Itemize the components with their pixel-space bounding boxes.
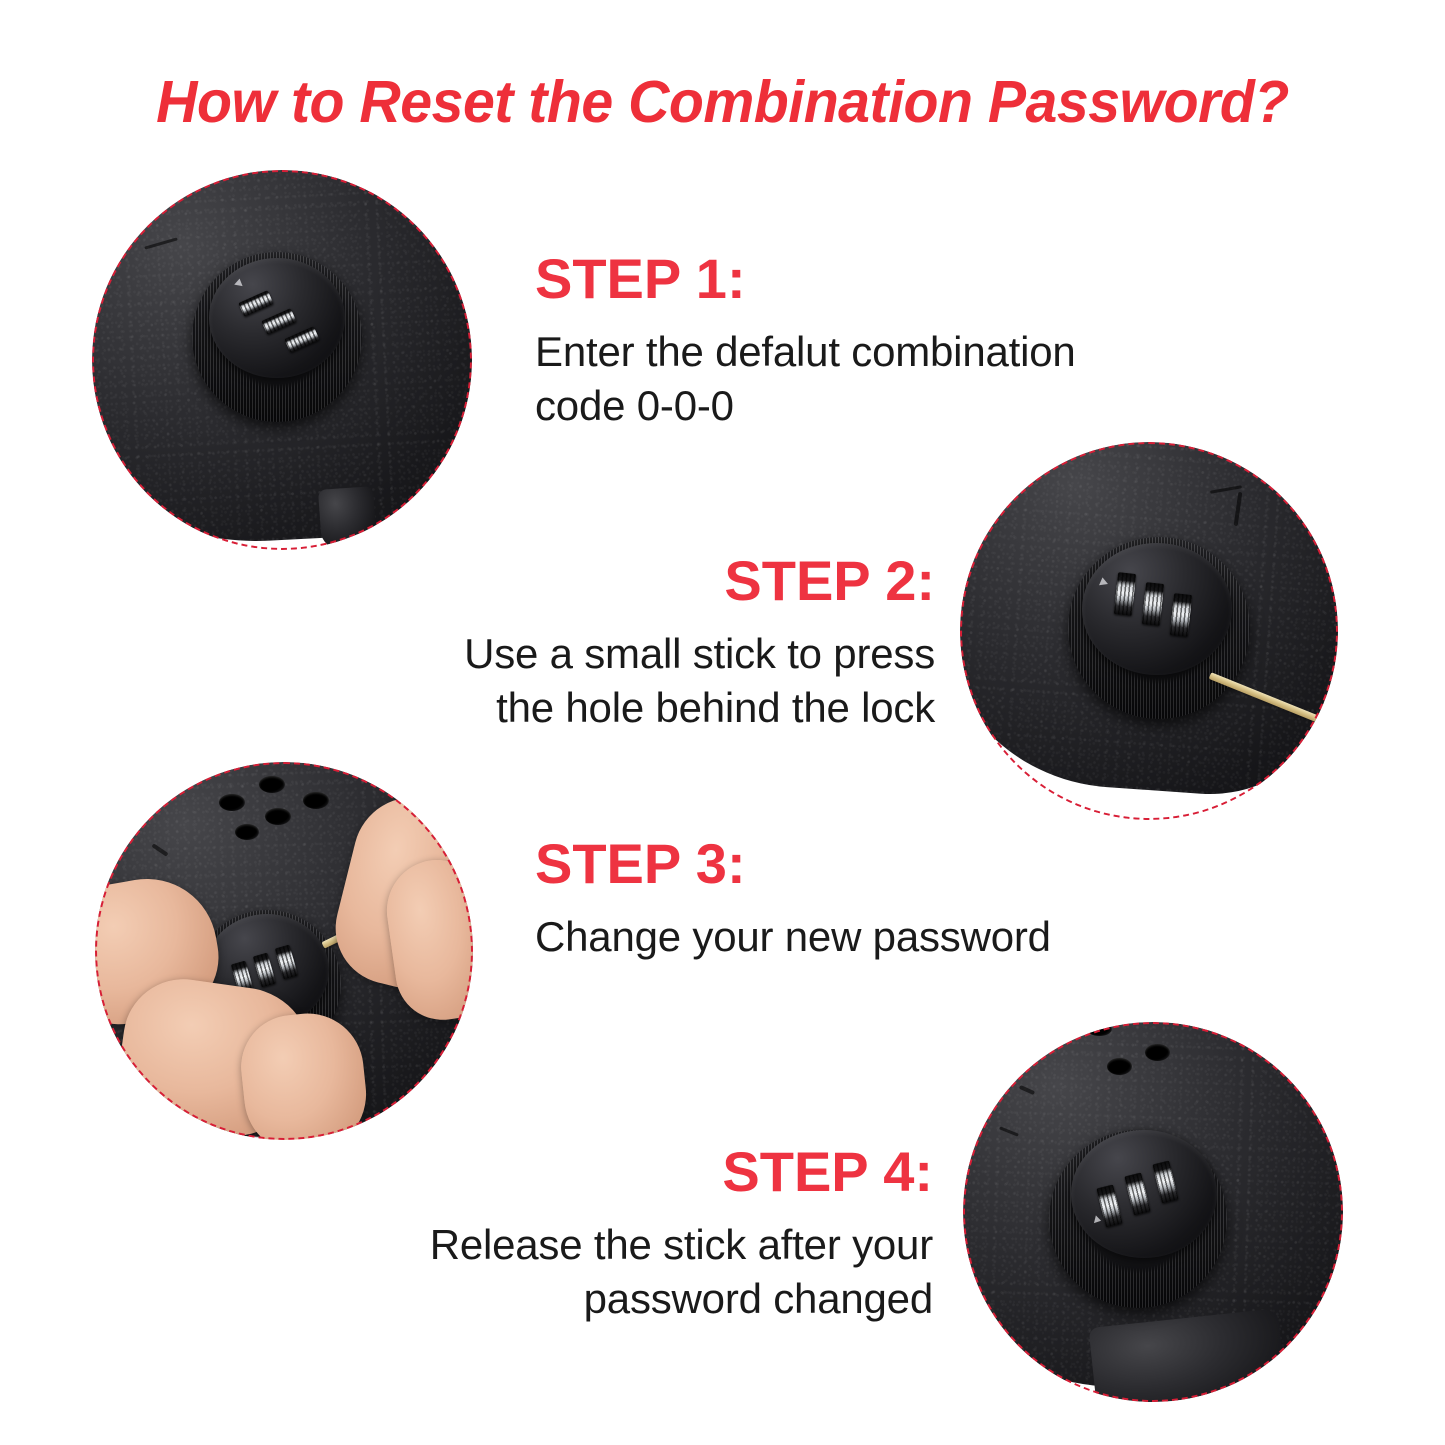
step-2-photo-content — [960, 442, 1338, 820]
combination-lock-dial — [192, 252, 362, 422]
combination-lock-dial — [1068, 537, 1250, 719]
step-2-body-line-2: the hole behind the lock — [230, 681, 935, 736]
step-2-heading: STEP 2: — [230, 552, 935, 611]
panel-latch-tab — [318, 486, 377, 550]
step-3-heading: STEP 3: — [535, 835, 1235, 894]
step-2-text-block: STEP 2: Use a small stick to press the h… — [230, 552, 935, 736]
vent-hole — [219, 794, 245, 811]
vent-hole — [1087, 1022, 1112, 1036]
step-1-photo-content — [92, 170, 472, 550]
step-1-body: Enter the defalut combination code 0-0-0 — [535, 325, 1235, 434]
step-1-body-line-2: code 0-0-0 — [535, 379, 1235, 434]
step-3-photo-content — [95, 762, 473, 1140]
step-3-body-line-1: Change your new password — [535, 910, 1235, 965]
dial-index-marker — [1098, 577, 1108, 585]
step-4-photo-content — [963, 1022, 1343, 1402]
step-1-text-block: STEP 1: Enter the defalut combination co… — [535, 250, 1235, 434]
vent-hole — [1145, 1044, 1170, 1061]
step-3-body: Change your new password — [535, 910, 1235, 965]
step-2-body-line-1: Use a small stick to press — [230, 627, 935, 682]
infographic-page: How to Reset the Combination Password? — [0, 0, 1445, 1445]
step-1-photo — [92, 170, 472, 550]
step-4-body-line-1: Release the stick after your — [228, 1218, 933, 1273]
step-4-photo — [963, 1022, 1343, 1402]
dial-index-marker — [234, 278, 244, 286]
vent-hole — [265, 808, 291, 825]
vent-hole — [235, 824, 259, 840]
step-2-body: Use a small stick to press the hole behi… — [230, 627, 935, 736]
step-4-body: Release the stick after your password ch… — [228, 1218, 933, 1327]
combination-lock-dial — [1049, 1130, 1227, 1308]
step-3-photo — [95, 762, 473, 1140]
page-title: How to Reset the Combination Password? — [22, 68, 1424, 136]
step-3-text-block: STEP 3: Change your new password — [535, 835, 1235, 964]
step-1-heading: STEP 1: — [535, 250, 1235, 309]
step-1-body-line-1: Enter the defalut combination — [535, 325, 1235, 380]
step-4-text-block: STEP 4: Release the stick after your pas… — [228, 1143, 933, 1327]
step-4-body-line-2: password changed — [228, 1272, 933, 1327]
vent-hole — [1107, 1058, 1132, 1075]
step-4-heading: STEP 4: — [228, 1143, 933, 1202]
vent-hole — [303, 792, 329, 809]
vent-hole — [259, 776, 285, 793]
step-2-photo — [960, 442, 1338, 820]
